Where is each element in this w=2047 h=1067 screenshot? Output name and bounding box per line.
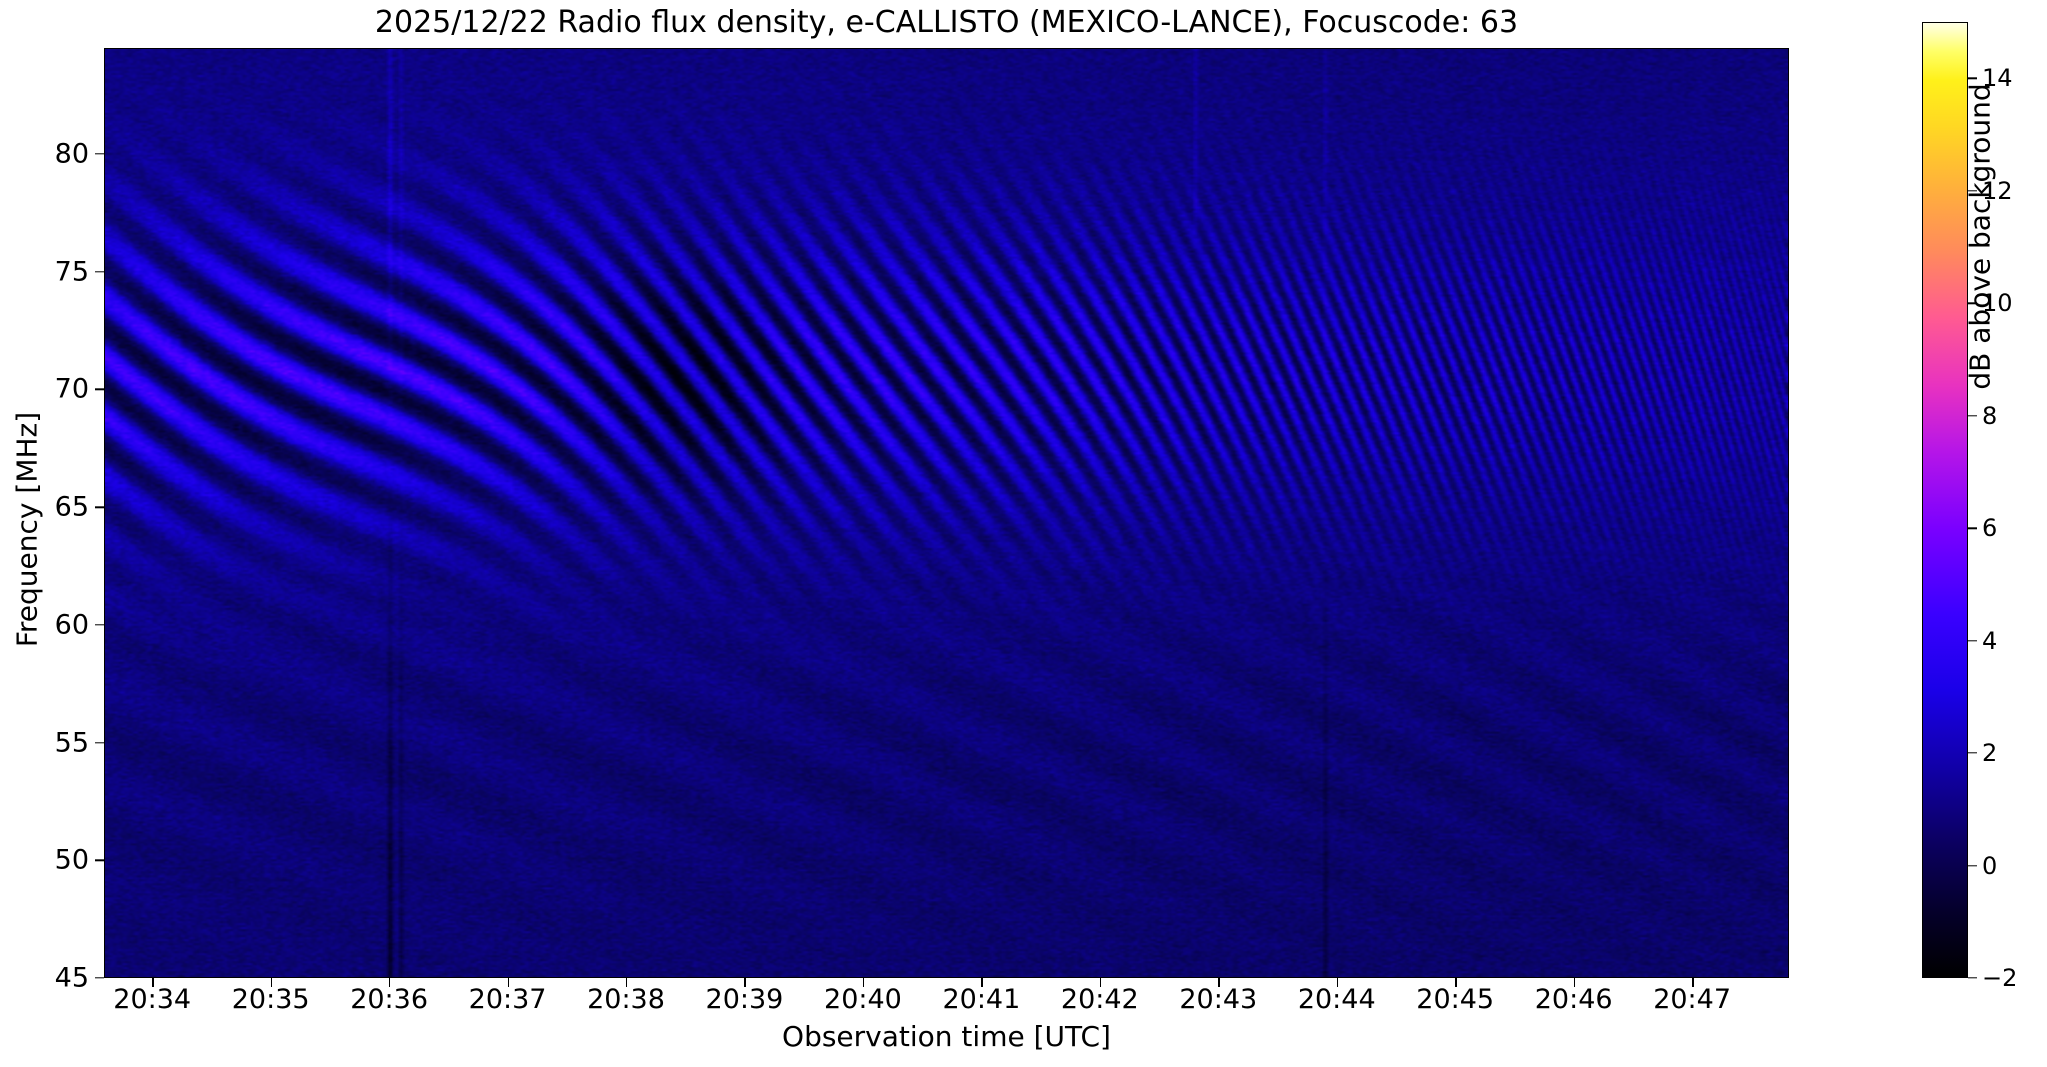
x-tick-label: 20:35 <box>206 984 336 1015</box>
x-tick-label: 20:45 <box>1390 984 1520 1015</box>
x-tick-label: 20:43 <box>1153 984 1283 1015</box>
y-tick-label: 65 <box>19 492 89 523</box>
y-tick-label: 55 <box>19 727 89 758</box>
y-tick-mark <box>95 153 104 154</box>
y-tick-mark <box>95 742 104 743</box>
y-tick-mark <box>95 506 104 507</box>
y-tick-label: 60 <box>19 609 89 640</box>
colorbar-tick-label: 6 <box>1982 514 1997 542</box>
colorbar: 14121086420−2 <box>1922 22 1968 978</box>
x-tick-mark <box>1218 978 1219 987</box>
y-tick-mark <box>95 271 104 272</box>
x-tick-label: 20:46 <box>1509 984 1639 1015</box>
x-tick-label: 20:47 <box>1627 984 1757 1015</box>
colorbar-tick-label: 0 <box>1982 852 1997 880</box>
colorbar-tick-mark <box>1968 752 1977 753</box>
y-tick-mark <box>95 977 104 978</box>
x-axis-label: Observation time [UTC] <box>104 1020 1789 1053</box>
y-tick-label: 45 <box>19 963 89 994</box>
x-tick-label: 20:42 <box>1035 984 1165 1015</box>
colorbar-tick-mark <box>1968 527 1977 528</box>
x-tick-mark <box>1574 978 1575 987</box>
x-tick-mark <box>744 978 745 987</box>
spectrogram-image <box>105 49 1788 977</box>
x-tick-label: 20:36 <box>324 984 454 1015</box>
y-tick-mark <box>95 860 104 861</box>
colorbar-tick-mark <box>1968 640 1977 641</box>
colorbar-tick-label: 2 <box>1982 739 1997 767</box>
x-tick-label: 20:34 <box>87 984 217 1015</box>
x-tick-label: 20:44 <box>1272 984 1402 1015</box>
colorbar-tick-label: 4 <box>1982 627 1997 655</box>
y-tick-label: 75 <box>19 256 89 287</box>
x-tick-mark <box>1100 978 1101 987</box>
x-tick-mark <box>981 978 982 987</box>
x-tick-mark <box>1692 978 1693 987</box>
x-tick-mark <box>1337 978 1338 987</box>
colorbar-gradient <box>1922 22 1968 978</box>
spectrogram-figure: 2025/12/22 Radio flux density, e-CALLIST… <box>0 0 2047 1067</box>
page-title: 2025/12/22 Radio flux density, e-CALLIST… <box>104 6 1789 40</box>
colorbar-tick-mark <box>1968 977 1977 978</box>
x-tick-mark <box>508 978 509 987</box>
x-tick-label: 20:38 <box>561 984 691 1015</box>
x-tick-label: 20:37 <box>443 984 573 1015</box>
x-tick-mark <box>389 978 390 987</box>
y-tick-mark <box>95 624 104 625</box>
x-tick-label: 20:41 <box>916 984 1046 1015</box>
spectrogram-plot-area <box>104 48 1789 978</box>
y-tick-label: 80 <box>19 138 89 169</box>
x-tick-mark <box>863 978 864 987</box>
x-tick-label: 20:39 <box>679 984 809 1015</box>
y-tick-label: 70 <box>19 374 89 405</box>
x-tick-mark <box>1455 978 1456 987</box>
y-tick-label: 50 <box>19 845 89 876</box>
x-tick-mark <box>152 978 153 987</box>
x-tick-mark <box>626 978 627 987</box>
y-axis-label: Frequency [MHz] <box>11 290 44 770</box>
y-tick-mark <box>95 389 104 390</box>
colorbar-tick-label: −2 <box>1982 964 2017 992</box>
colorbar-tick-mark <box>1968 865 1977 866</box>
x-tick-mark <box>271 978 272 987</box>
x-tick-label: 20:40 <box>798 984 928 1015</box>
colorbar-label: dB above background <box>1964 0 1997 517</box>
